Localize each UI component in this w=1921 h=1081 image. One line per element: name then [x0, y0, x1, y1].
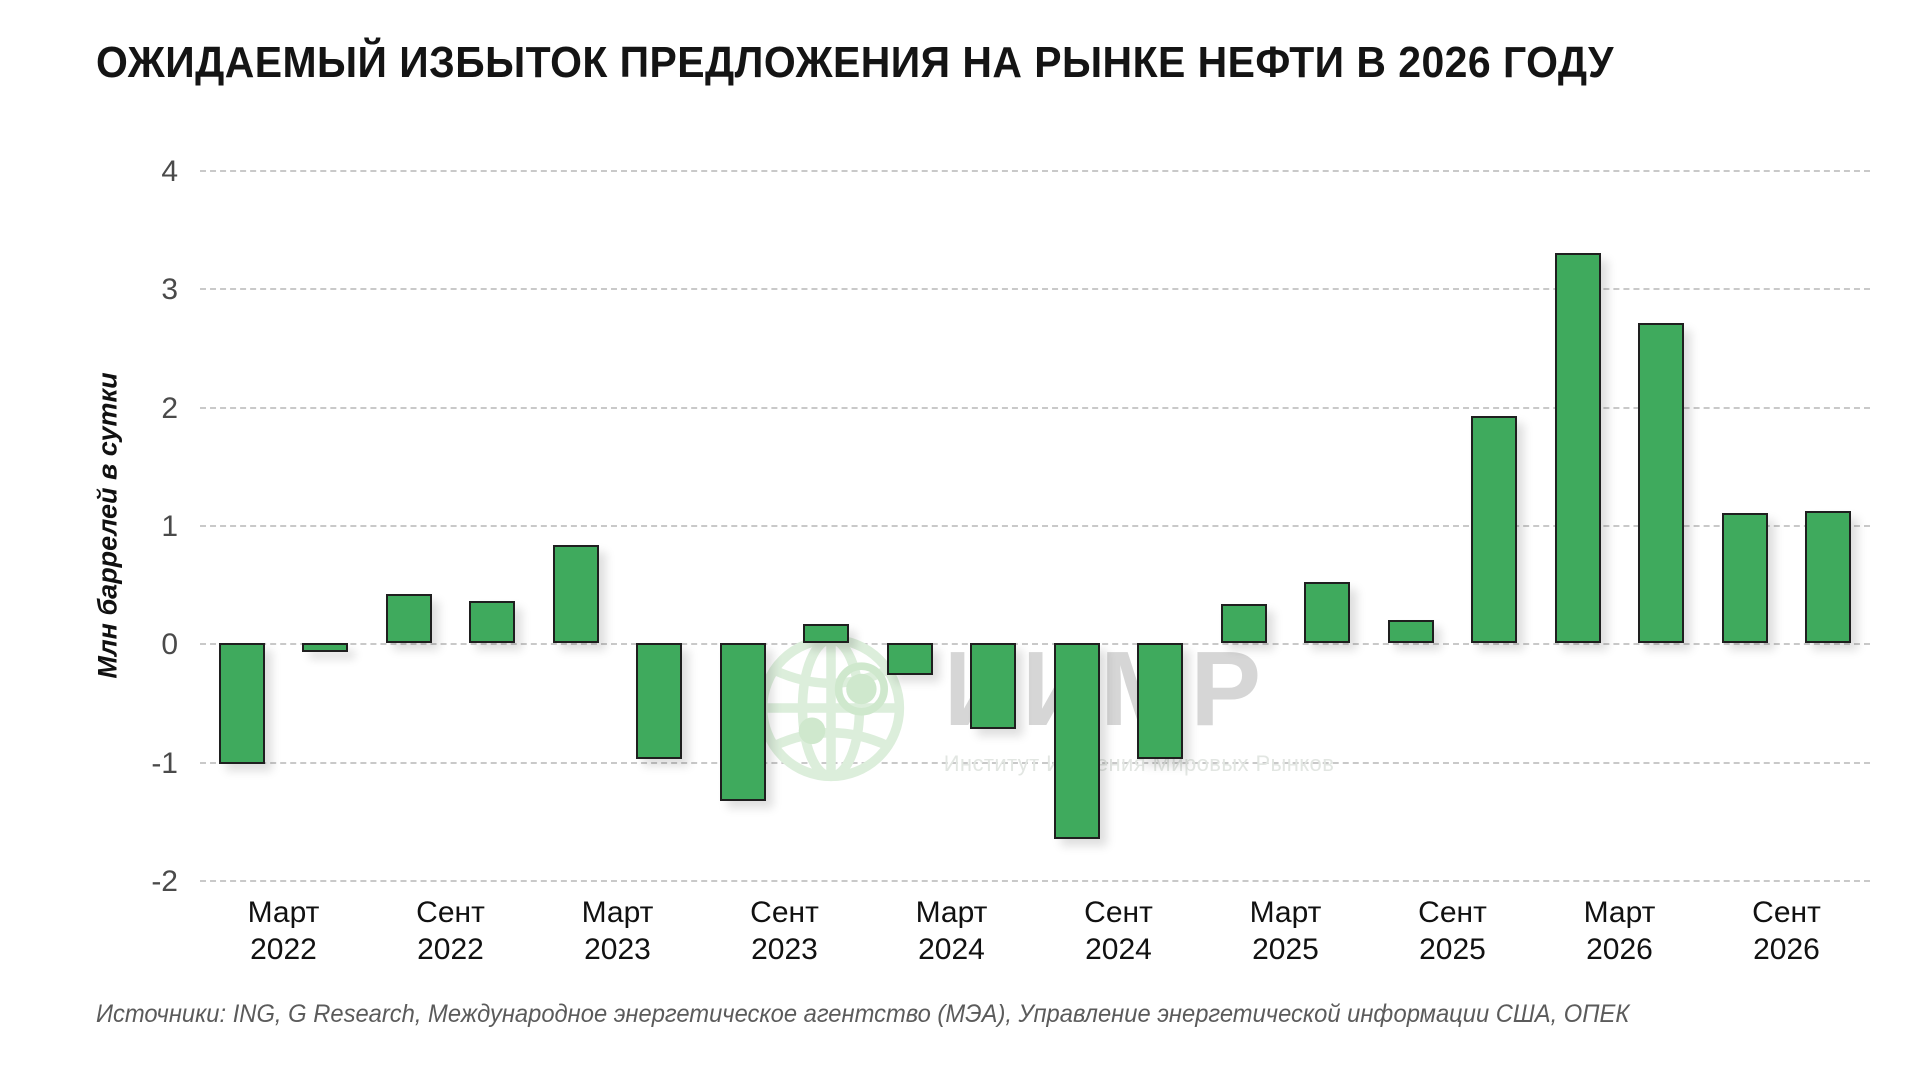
bar[interactable]: [1722, 513, 1768, 643]
bar[interactable]: [636, 643, 682, 759]
bar-slot: [1703, 170, 1787, 880]
x-axis-tick-label: Март2026: [1584, 895, 1656, 968]
x-axis-tick-label: Март2025: [1250, 895, 1322, 968]
x-axis-tick-label: Март2023: [582, 895, 654, 968]
x-axis-tick-month: Сент: [1418, 895, 1487, 932]
bar-slot: [1286, 170, 1370, 880]
x-axis-tick-month: Март: [1250, 895, 1322, 932]
x-axis-labels: Март2022Сент2022Март2023Сент2023Март2024…: [200, 895, 1870, 985]
bar[interactable]: [1638, 323, 1684, 644]
x-axis-tick-label: Сент2025: [1418, 895, 1487, 968]
bar-slot: [952, 170, 1036, 880]
gridline: -2: [200, 880, 1870, 882]
bar-slot: [1369, 170, 1453, 880]
bar[interactable]: [1054, 643, 1100, 838]
bar-slot: [701, 170, 785, 880]
bar-slot: [284, 170, 368, 880]
bar[interactable]: [1805, 511, 1851, 644]
x-axis-tick-year: 2024: [1084, 932, 1153, 969]
bar[interactable]: [386, 594, 432, 644]
x-axis-tick-month: Сент: [750, 895, 819, 932]
x-axis-tick-month: Март: [1584, 895, 1656, 932]
x-axis-tick-month: Март: [248, 895, 320, 932]
sources-note: Источники: ING, G Research, Международно…: [96, 1000, 1629, 1029]
x-axis-tick-year: 2023: [582, 932, 654, 969]
x-axis-tick-label: Сент2024: [1084, 895, 1153, 968]
bar-slot: [1453, 170, 1537, 880]
bar[interactable]: [302, 643, 348, 651]
bar[interactable]: [553, 545, 599, 643]
x-axis-tick-year: 2022: [416, 932, 485, 969]
bar[interactable]: [803, 624, 849, 643]
bar-slot: [1787, 170, 1871, 880]
bar-slot: [1035, 170, 1119, 880]
x-axis-tick-year: 2025: [1250, 932, 1322, 969]
bar[interactable]: [1304, 582, 1350, 644]
plot-area: 43210-1-2: [200, 170, 1870, 880]
y-axis-tick-label: 2: [161, 392, 178, 426]
y-axis-tick-label: 4: [161, 155, 178, 189]
bar-slot: [200, 170, 284, 880]
bar-slot: [868, 170, 952, 880]
y-axis-tick-label: -1: [151, 747, 178, 781]
x-axis-tick-label: Март2024: [916, 895, 988, 968]
x-axis-tick-year: 2022: [248, 932, 320, 969]
bar[interactable]: [1471, 416, 1517, 643]
x-axis-tick-label: Сент2023: [750, 895, 819, 968]
bar[interactable]: [887, 643, 933, 675]
bar[interactable]: [469, 601, 515, 644]
page-title: Ожидаемый избыток предложения на рынке н…: [96, 38, 1733, 88]
bar-slot: [1202, 170, 1286, 880]
bar[interactable]: [1221, 604, 1267, 643]
x-axis-tick-month: Март: [916, 895, 988, 932]
x-axis-tick-month: Сент: [1752, 895, 1821, 932]
x-axis-tick-month: Сент: [416, 895, 485, 932]
x-axis-tick-year: 2026: [1584, 932, 1656, 969]
y-axis-title-label: Млн баррелей в сутки: [93, 372, 124, 678]
bar-slot: [618, 170, 702, 880]
x-axis-tick-label: Сент2026: [1752, 895, 1821, 968]
bar[interactable]: [219, 643, 265, 764]
bar[interactable]: [970, 643, 1016, 728]
bar-slot: [1536, 170, 1620, 880]
bar-slot: [1620, 170, 1704, 880]
bar[interactable]: [1137, 643, 1183, 759]
x-axis-tick-year: 2025: [1418, 932, 1487, 969]
x-axis-tick-label: Март2022: [248, 895, 320, 968]
x-axis-tick-year: 2023: [750, 932, 819, 969]
y-axis-tick-label: 1: [161, 510, 178, 544]
y-axis-tick-label: -2: [151, 865, 178, 899]
bar-slot: [451, 170, 535, 880]
bar[interactable]: [1555, 253, 1601, 644]
x-axis-tick-year: 2024: [916, 932, 988, 969]
bar-slot: [534, 170, 618, 880]
bar[interactable]: [720, 643, 766, 800]
x-axis-tick-month: Сент: [1084, 895, 1153, 932]
bar[interactable]: [1388, 620, 1434, 644]
y-axis-tick-label: 3: [161, 273, 178, 307]
bars-layer: [200, 170, 1870, 880]
x-axis-tick-label: Сент2022: [416, 895, 485, 968]
x-axis-tick-year: 2026: [1752, 932, 1821, 969]
bar-slot: [367, 170, 451, 880]
y-axis-title: Млн баррелей в сутки: [88, 170, 128, 880]
bar-slot: [1119, 170, 1203, 880]
y-axis-tick-label: 0: [161, 628, 178, 662]
bar-slot: [785, 170, 869, 880]
x-axis-tick-month: Март: [582, 895, 654, 932]
